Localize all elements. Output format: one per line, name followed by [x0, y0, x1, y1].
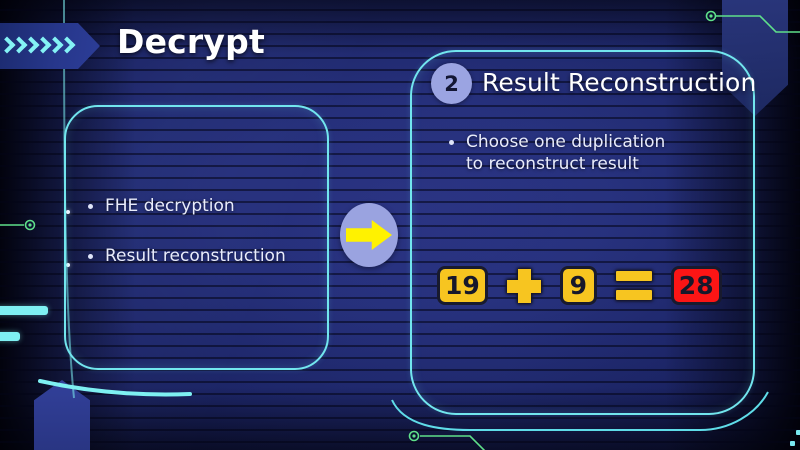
- right-panel-bullet-list: Choose one duplication to reconstruct re…: [449, 132, 729, 176]
- slide-stage: Decrypt FHE decryption Result reconstruc…: [0, 0, 800, 450]
- result-tile: 28: [671, 266, 722, 305]
- bullet-dot-icon: [88, 204, 93, 209]
- page-title: Decrypt: [117, 22, 265, 61]
- left-panel-bullet-list: FHE decryption Result reconstruction: [88, 196, 328, 268]
- operand-b-tile: 9: [560, 266, 597, 305]
- bullet-text-line1: Choose one duplication: [466, 132, 665, 152]
- bullet-dot-icon: [88, 254, 93, 259]
- list-item: Result reconstruction: [88, 246, 328, 268]
- flow-arrow-badge: [340, 203, 398, 267]
- right-panel-heading: Result Reconstruction: [482, 68, 756, 97]
- bullet-text-line2: to reconstruct result: [466, 154, 639, 174]
- list-item: Choose one duplication to reconstruct re…: [449, 132, 729, 176]
- bullet-text: Result reconstruction: [105, 246, 286, 268]
- result-reconstruction-panel: [410, 50, 755, 415]
- step-number-badge: 2: [431, 63, 472, 104]
- bullet-dot-icon: [449, 140, 454, 145]
- chevrons-right-icon: [0, 36, 71, 56]
- plus-icon: [507, 269, 541, 303]
- equation-row: 19 9 28: [437, 266, 722, 305]
- equals-icon: [616, 271, 652, 300]
- bullet-text: FHE decryption: [105, 196, 235, 218]
- operand-a-tile: 19: [437, 266, 488, 305]
- bullet-text: Choose one duplication to reconstruct re…: [466, 132, 665, 176]
- arrow-right-icon: [346, 218, 392, 252]
- list-item: FHE decryption: [88, 196, 328, 218]
